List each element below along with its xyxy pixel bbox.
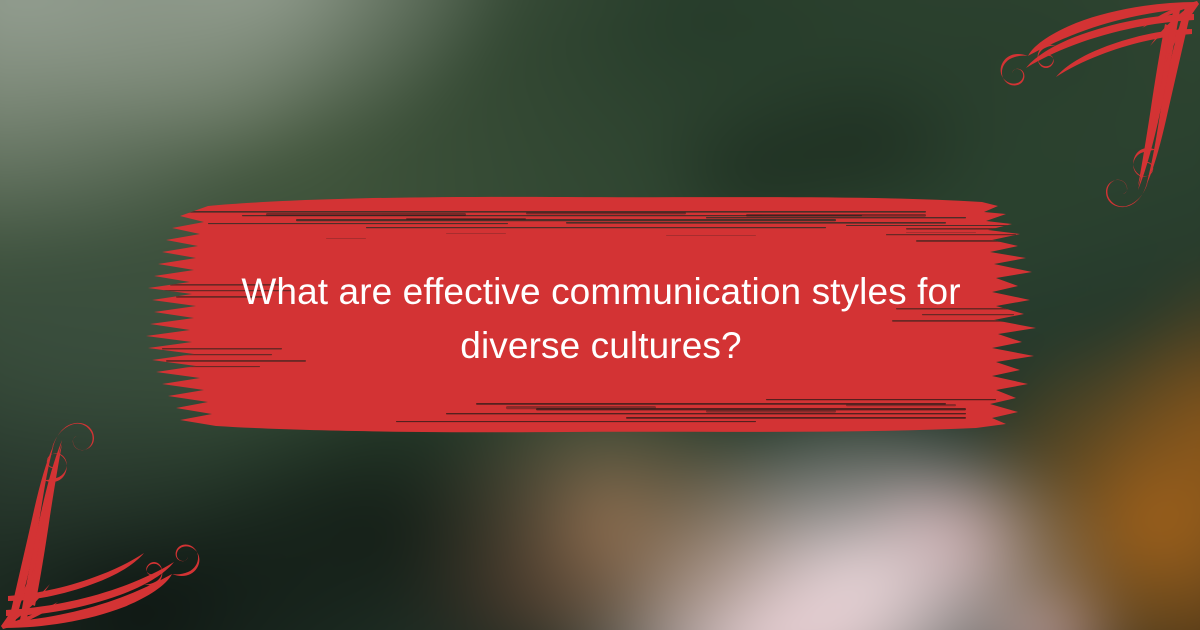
headline-text: What are effective communication styles …: [186, 265, 1016, 373]
filigree-ornament-top-right: [970, 0, 1200, 230]
filigree-ornament-bottom-left: [0, 400, 230, 630]
quote-card: What are effective communication styles …: [0, 0, 1200, 630]
